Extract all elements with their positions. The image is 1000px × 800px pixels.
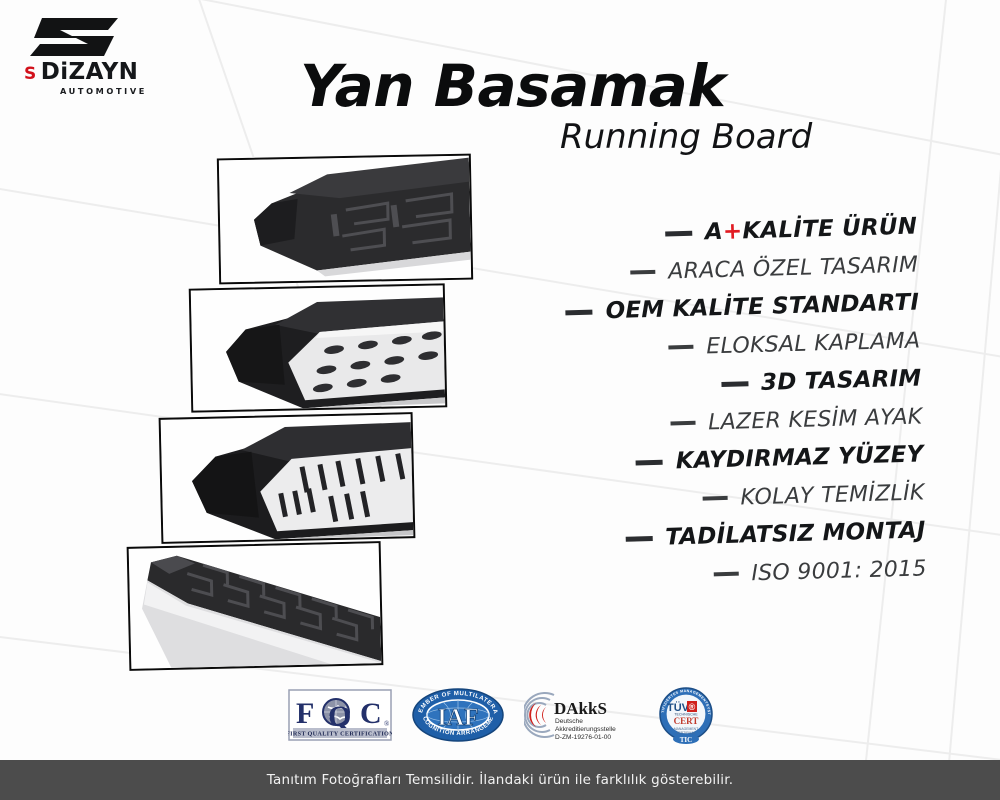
iaf-certification-logo: IAF MEMBER OF MULTILATERAL RECOGNITION A… xyxy=(410,686,506,749)
dakks-certification-logo: DAkkS Deutsche Akkreditierungsstelle D-Z… xyxy=(524,689,636,746)
feature-label: 3D TASARIM xyxy=(761,365,922,395)
dakks-line2: Akkreditierungsstelle xyxy=(555,726,616,733)
tuv-cert-icon: TÜV ® TECHNISCHE CERT MANAGEMENT ZERTIFI… xyxy=(654,685,718,745)
bullet-dash-icon xyxy=(670,421,695,426)
svg-text:C: C xyxy=(360,697,382,730)
product-image-4 xyxy=(127,541,384,671)
feature-label: TADİLATSIZ MONTAJ xyxy=(665,517,926,550)
tuv-bottom: TIC xyxy=(680,736,692,744)
svg-text:®: ® xyxy=(689,702,696,712)
bullet-dash-icon xyxy=(630,270,655,275)
dakks-wordmark: DAkkS xyxy=(554,699,607,718)
running-board-black-tread-illustration xyxy=(129,543,382,669)
feature-label: ARACA ÖZEL TASARIM xyxy=(668,252,919,284)
svg-text:®: ® xyxy=(384,720,390,728)
feature-label: ISO 9001: 2015 xyxy=(751,556,927,586)
logo-brand-name: DiZAYN xyxy=(41,61,139,83)
product-image-2 xyxy=(189,283,448,412)
certification-logos: F Q C ® FIRST QUALITY CERTIFICATION xyxy=(288,686,718,748)
bullet-dash-icon xyxy=(625,536,652,542)
svg-text:F: F xyxy=(296,697,314,730)
feature-label: A+KALİTE ÜRÜN xyxy=(705,214,918,246)
s-dizayn-monogram-icon xyxy=(22,14,132,60)
footer-disclaimer: Tanıtım Fotoğrafları Temsilidir. İlandak… xyxy=(267,772,733,788)
feature-label: KAYDIRMAZ YÜZEY xyxy=(675,441,923,474)
feature-label: KOLAY TEMİZLİK xyxy=(740,480,925,510)
page-title: Yan Basamak xyxy=(300,52,725,120)
feature-list: A+KALİTE ÜRÜN ARACA ÖZEL TASARIM OEM KAL… xyxy=(447,208,927,601)
fqc-certification-icon: F Q C ® FIRST QUALITY CERTIFICATION xyxy=(288,689,392,741)
svg-text:IAF: IAF xyxy=(437,705,478,731)
bullet-dash-icon xyxy=(721,381,748,387)
advertisement-canvas: S DiZAYN AUTOMOTIVE Yan Basamak Running … xyxy=(0,0,1000,800)
dakks-line1: Deutsche xyxy=(555,718,583,725)
logo-tagline: AUTOMOTIVE xyxy=(22,86,202,96)
bullet-dash-icon xyxy=(713,572,738,577)
bullet-dash-icon xyxy=(636,459,663,465)
dakks-line3: D-ZM-19276-01-00 xyxy=(555,734,611,741)
page-subtitle: Running Board xyxy=(560,117,812,157)
bullet-dash-icon xyxy=(702,496,727,501)
feature-label: OEM KALİTE STANDARTI xyxy=(605,289,919,324)
product-image-3 xyxy=(159,412,416,544)
running-board-silver-oval-illustration xyxy=(191,285,445,410)
product-image-1 xyxy=(217,154,473,285)
brand-logo: S DiZAYN AUTOMOTIVE xyxy=(22,14,202,86)
bullet-dash-icon xyxy=(566,309,593,315)
iaf-certification-icon: IAF MEMBER OF MULTILATERAL RECOGNITION A… xyxy=(410,686,506,744)
dakks-certification-icon: DAkkS Deutsche Akkreditierungsstelle D-Z… xyxy=(524,689,636,741)
plus-accent: + xyxy=(723,218,743,245)
footer-bar: Tanıtım Fotoğrafları Temsilidir. İlandak… xyxy=(0,760,1000,800)
feature-label: LAZER KESİM AYAK xyxy=(708,404,923,435)
bullet-dash-icon xyxy=(665,230,692,236)
fqc-caption: FIRST QUALITY CERTIFICATION xyxy=(288,730,392,737)
bullet-dash-icon xyxy=(668,345,693,350)
running-board-silver-slat-illustration xyxy=(161,414,414,542)
tuv-cert-logo: TÜV ® TECHNISCHE CERT MANAGEMENT ZERTIFI… xyxy=(654,685,718,750)
feature-label: ELOKSAL KAPLAMA xyxy=(706,328,921,359)
tuv-sub: CERT xyxy=(674,716,699,726)
fqc-certification-logo: F Q C ® FIRST QUALITY CERTIFICATION xyxy=(288,689,392,746)
logo-accent-letter: S xyxy=(24,66,36,83)
running-board-black-maze-illustration xyxy=(219,156,471,283)
